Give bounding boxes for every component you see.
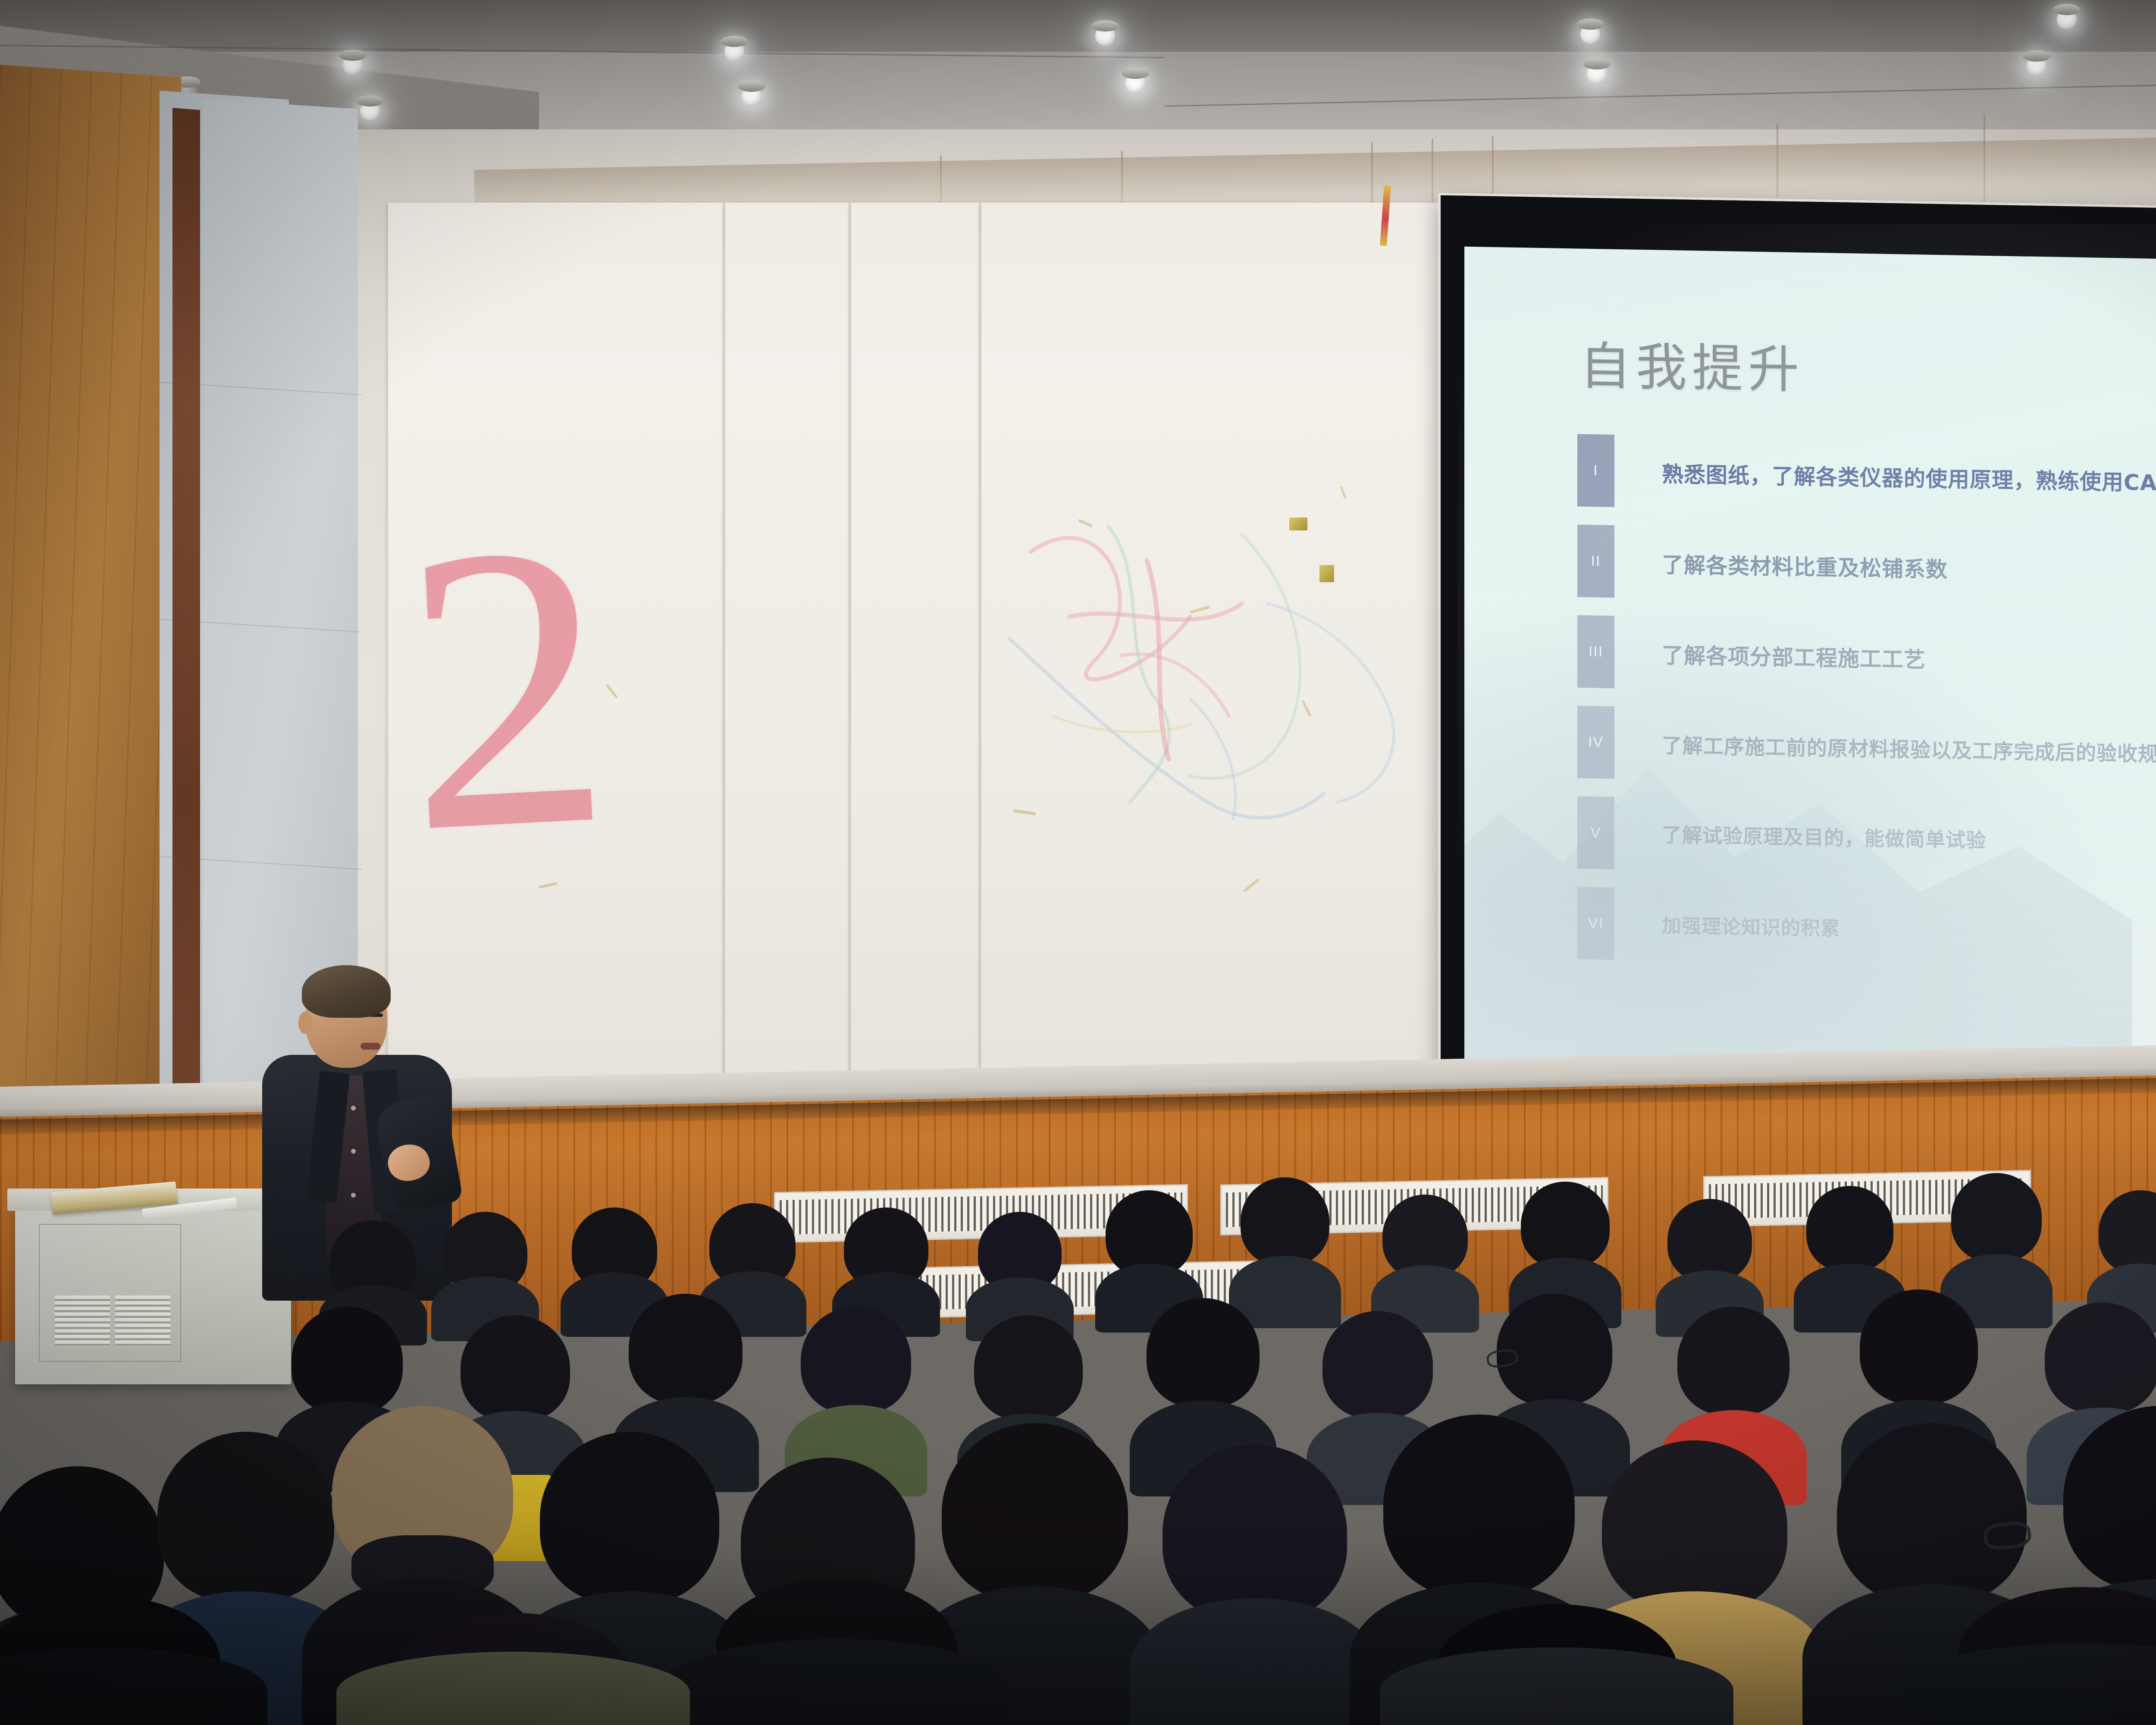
head [1241,1177,1329,1265]
wall-panel [851,203,981,1117]
head [1497,1294,1612,1406]
left-dark-wood-strip [172,108,200,1093]
bullet-numeral: IV [1577,706,1614,779]
wall-panel [725,203,850,1117]
wall-graffiti-digit: 2 [396,515,681,873]
audience [0,1164,2156,1725]
projection-screen[interactable]: Redleaf 自我提升 I 熟悉图纸，了解各类仪器的使用原理，熟练使用CAD … [1438,193,2156,1123]
bullet-numeral: I [1577,434,1614,507]
slide-bullet-item: V 了解试验原理及目的，能做简单试验 [1577,796,2156,903]
presenter-hair [302,965,391,1018]
left-wood-wall [0,65,181,1242]
shoulders [0,1647,267,1725]
slide-title: 自我提升 [1580,324,1804,402]
head [1521,1182,1610,1268]
wall-gold-fleck [1289,517,1307,530]
lecture-hall-photo: 2 [0,0,2156,1725]
head [942,1423,1128,1603]
wood-grain [0,65,181,1242]
slide-bullet-item: IV 了解工序施工前的原材料报验以及工序完成后的验收规范 [1577,706,2156,812]
head [2063,1406,2156,1591]
audience-member-fur-hood [336,1613,690,1725]
bullet-text: 了解工序施工前的原材料报验以及工序完成后的验收规范 [1662,729,2156,768]
ceiling-spotlight [1587,64,1607,84]
audience-member-foreground [664,1578,1009,1725]
bullet-text: 了解试验原理及目的，能做简单试验 [1662,819,1986,853]
head [1806,1186,1893,1271]
slide-bullet-item: III 了解各项分部工程施工工艺 [1577,615,2156,722]
scribble-svg [966,474,1462,970]
bullet-numeral: III [1577,615,1614,688]
bullet-text: 加强理论知识的积累 [1662,910,1840,941]
wall-gold-fleck [1319,565,1334,582]
shoulders [336,1652,690,1725]
head [629,1294,743,1404]
shirt-button [351,1149,356,1154]
shoulders [1380,1647,1733,1725]
bullet-text: 熟悉图纸，了解各类仪器的使用原理，熟练使用CAD [1662,457,2156,497]
ceiling-dark-band [0,0,2156,52]
ceiling-spotlight [2027,56,2046,76]
presenter-mouth [360,1043,380,1050]
head [801,1307,911,1414]
bullet-numeral: VI [1577,887,1614,960]
ceiling-spotlight [360,101,380,121]
presenter-ear [298,1012,312,1034]
slide-bullet-list: I 熟悉图纸，了解各类仪器的使用原理，熟练使用CAD II 了解各类材料比重及松… [1577,434,2156,994]
ceiling-spotlight [724,41,744,61]
ceiling-spotlight [343,55,363,75]
head [1602,1440,1787,1613]
slide-bullet-item: II 了解各类材料比重及松铺系数 [1577,524,2156,631]
wall-graffiti-scribbles [966,474,1462,970]
head [2045,1302,2156,1414]
head [1163,1445,1347,1621]
audience-member-foreground [1897,1587,2156,1725]
head [1837,1423,2027,1604]
ceiling-spotlight [1125,73,1145,93]
bullet-numeral: II [1577,524,1614,598]
head [1677,1307,1789,1415]
ceiling-spotlight [2057,9,2077,29]
slide-bullet-item: VI 加强理论知识的积累 [1577,887,2156,994]
head [974,1315,1083,1421]
audience-member [1130,1445,1380,1725]
shirt-button [351,1106,356,1110]
ceiling-spotlight [742,86,761,106]
head [1322,1311,1433,1419]
head [1951,1173,2042,1262]
head [1147,1298,1260,1408]
head [1667,1199,1752,1282]
shoulders [1897,1643,2156,1725]
audience-member-foreground [1380,1604,1733,1725]
audience-member-foreground [0,1596,267,1725]
bullet-numeral: V [1577,796,1614,869]
bullet-text: 了解各项分部工程施工工艺 [1662,638,1926,674]
ceiling-spotlight [1580,24,1600,44]
head [1860,1289,1978,1404]
bullet-text: 了解各类材料比重及松铺系数 [1662,548,1948,584]
head [1383,1414,1575,1597]
shoulders [1130,1598,1380,1725]
head [291,1307,403,1414]
head [2099,1190,2156,1274]
ceiling-spotlight [1095,26,1115,46]
slide-surface: 自我提升 I 熟悉图纸，了解各类仪器的使用原理，熟练使用CAD II 了解各类材… [1464,247,2156,1095]
slide-bullet-item: I 熟悉图纸，了解各类仪器的使用原理，熟练使用CAD [1577,434,2156,541]
